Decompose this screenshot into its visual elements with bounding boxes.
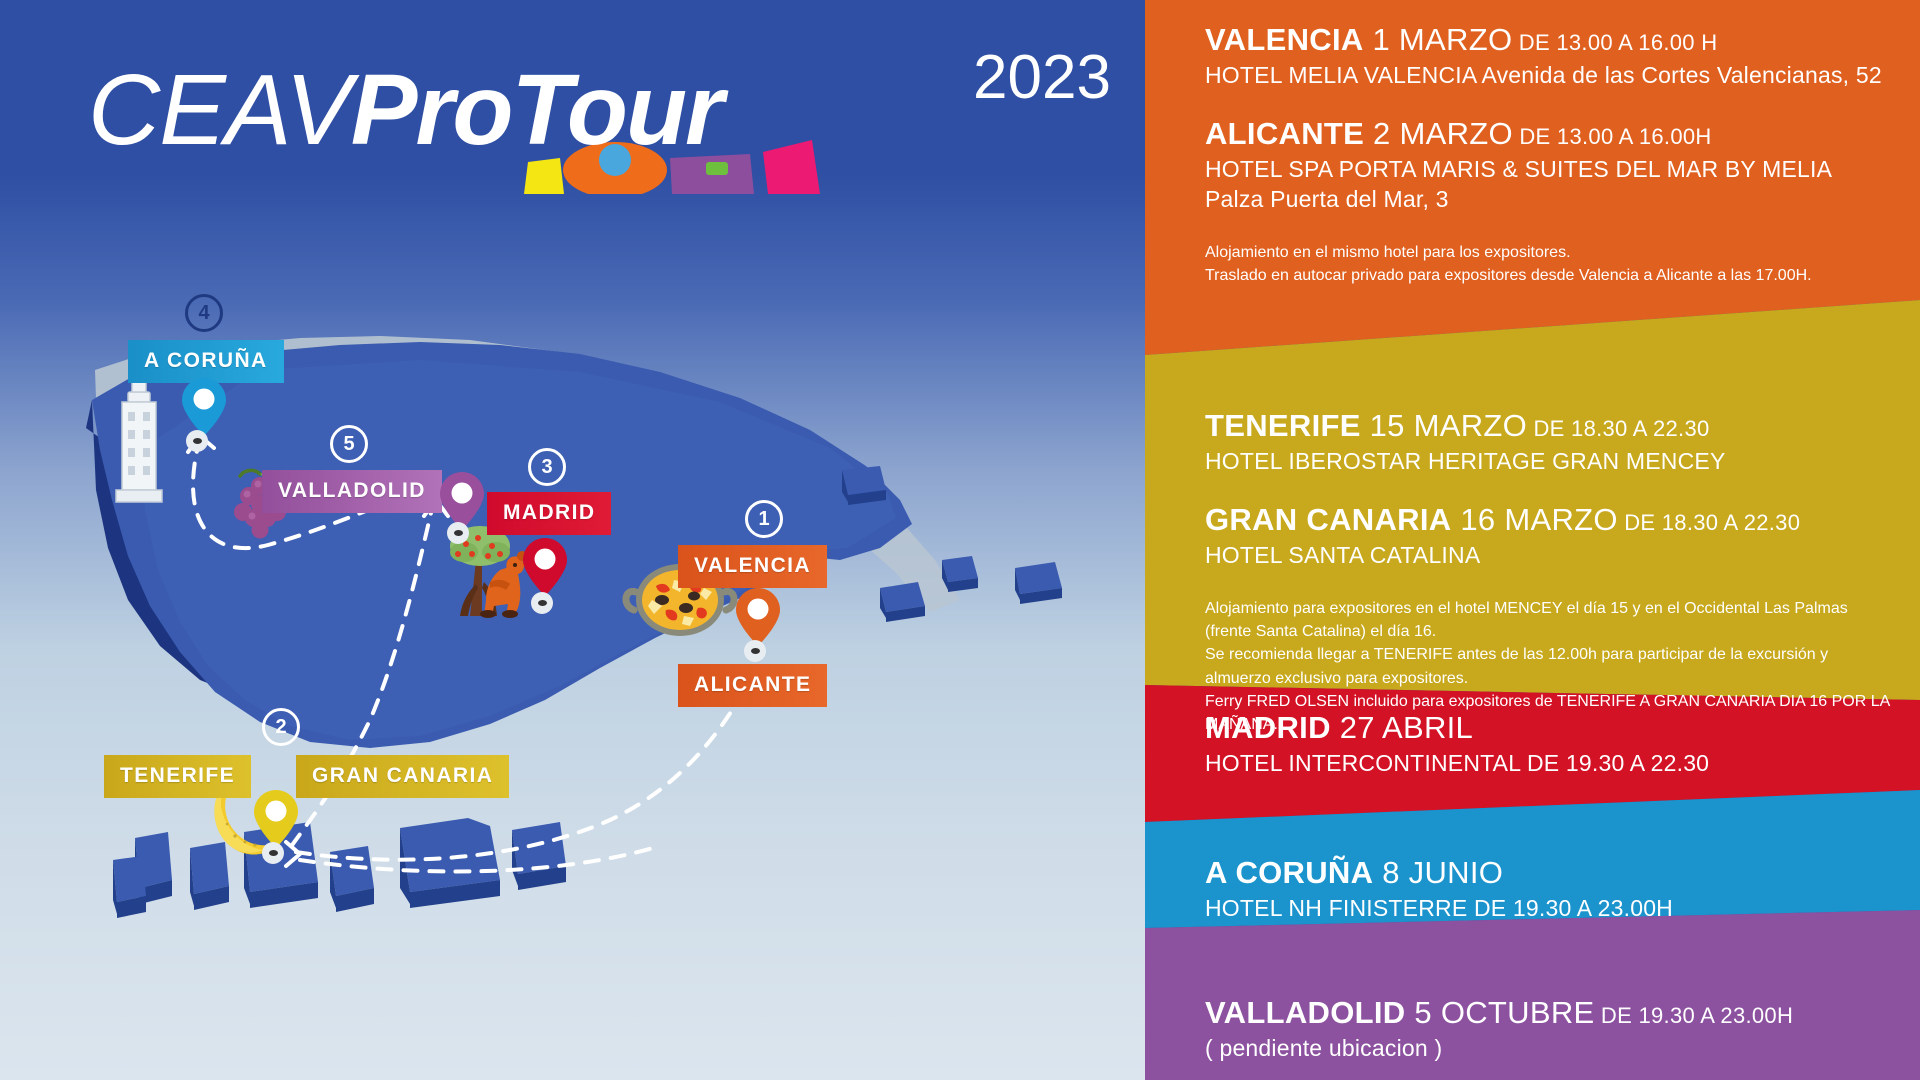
logo-protour-text: ProTour <box>351 54 722 166</box>
event-hotel-valencia: HOTEL MELIA VALENCIA Avenida de las Cort… <box>1205 61 1920 91</box>
map-label-valencia[interactable]: VALENCIA <box>678 545 827 588</box>
event-city: VALLADOLID <box>1205 995 1405 1030</box>
schedule-notes-orange: Alojamiento en el mismo hotel para los e… <box>1205 241 1920 287</box>
event-date: 1 MARZO <box>1364 22 1513 57</box>
event-time: DE 13.00 A 16.00H <box>1513 124 1712 149</box>
map-number-badge-a-coruna: 4 <box>185 294 223 332</box>
event-date: 16 MARZO <box>1451 502 1617 537</box>
event-hotel-gran-canaria: HOTEL SANTA CATALINA <box>1205 541 1920 571</box>
map-pin-a-coruna[interactable] <box>182 378 226 436</box>
map-panel: CEAVProTour 2023 <box>0 0 1145 1080</box>
note-line: almuerzo exclusivo para expositores. <box>1205 667 1920 690</box>
map-dot-a-coruna <box>186 430 208 452</box>
schedule-band-gold: TENERIFE 15 MARZO DE 18.30 A 22.30 HOTEL… <box>1145 408 1920 736</box>
map-label-gran-canaria[interactable]: GRAN CANARIA <box>296 755 509 798</box>
map-pin-valencia[interactable] <box>736 588 780 646</box>
event-hotel-tenerife: HOTEL IBEROSTAR HERITAGE GRAN MENCEY <box>1205 447 1920 477</box>
schedule-panel: VALENCIA 1 MARZO DE 13.00 A 16.00 H HOTE… <box>1145 0 1920 1080</box>
event-hotel-madrid: HOTEL INTERCONTINENTAL DE 19.30 A 22.30 <box>1205 749 1920 779</box>
map-label-tenerife[interactable]: TENERIFE <box>104 755 251 798</box>
note-line: Se recomienda llegar a TENERIFE antes de… <box>1205 643 1920 666</box>
map-number-badge-valencia: 1 <box>745 500 783 538</box>
event-city: VALENCIA <box>1205 22 1364 57</box>
map-pin-madrid[interactable] <box>523 538 567 596</box>
note-line: Alojamiento para expositores en el hotel… <box>1205 597 1920 620</box>
event-city: MADRID <box>1205 710 1331 745</box>
event-title-valencia: VALENCIA 1 MARZO DE 13.00 A 16.00 H <box>1205 22 1920 59</box>
schedule-band-blue: A CORUÑA 8 JUNIO HOTEL NH FINISTERRE DE … <box>1145 855 1920 923</box>
event-time: DE 19.30 A 23.00H <box>1595 1003 1794 1028</box>
note-line: Traslado en autocar privado para exposit… <box>1205 264 1920 287</box>
event-time: DE 18.30 A 22.30 <box>1527 416 1709 441</box>
schedule-band-red: MADRID 27 ABRIL HOTEL INTERCONTINENTAL D… <box>1145 710 1920 778</box>
map-label-madrid[interactable]: MADRID <box>487 492 611 535</box>
event-city: A CORUÑA <box>1205 855 1373 890</box>
event-title-valladolid: VALLADOLID 5 OCTUBRE DE 19.30 A 23.00H <box>1205 995 1920 1032</box>
map-dot-valencia <box>744 640 766 662</box>
event-date: 5 OCTUBRE <box>1405 995 1594 1030</box>
note-line: (frente Santa Catalina) el día 16. <box>1205 620 1920 643</box>
event-city: ALICANTE <box>1205 116 1364 151</box>
map-number-badge-valladolid: 5 <box>330 425 368 463</box>
event-title-madrid: MADRID 27 ABRIL <box>1205 710 1920 747</box>
infographic-root: CEAVProTour 2023 <box>0 0 1920 1080</box>
event-date: 15 MARZO <box>1361 408 1527 443</box>
event-date: 2 MARZO <box>1364 116 1513 151</box>
canary-islands <box>113 818 566 918</box>
map-number-badge-madrid: 3 <box>528 448 566 486</box>
map-pin-canarias[interactable] <box>254 790 298 848</box>
event-time: DE 13.00 A 16.00 H <box>1512 30 1717 55</box>
note-line: Alojamiento en el mismo hotel para los e… <box>1205 241 1920 264</box>
event-hotel-alicante-2: Palza Puerta del Mar, 3 <box>1205 185 1920 215</box>
event-title-tenerife: TENERIFE 15 MARZO DE 18.30 A 22.30 <box>1205 408 1920 445</box>
map-label-alicante[interactable]: ALICANTE <box>678 664 827 707</box>
event-hotel-alicante: HOTEL SPA PORTA MARIS & SUITES DEL MAR B… <box>1205 155 1920 185</box>
event-city: GRAN CANARIA <box>1205 502 1451 537</box>
schedule-band-orange: VALENCIA 1 MARZO DE 13.00 A 16.00 H HOTE… <box>1145 22 1920 287</box>
event-date: 27 ABRIL <box>1331 710 1473 745</box>
event-date: 8 JUNIO <box>1373 855 1503 890</box>
map-dot-madrid <box>531 592 553 614</box>
event-title-alicante: ALICANTE 2 MARZO DE 13.00 A 16.00H <box>1205 116 1920 153</box>
map-label-a-coruna[interactable]: A CORUÑA <box>128 340 284 383</box>
map-number-badge-tenerife: 2 <box>262 708 300 746</box>
schedule-band-purple: VALLADOLID 5 OCTUBRE DE 19.30 A 23.00H (… <box>1145 995 1920 1063</box>
map-pin-valladolid[interactable] <box>440 472 484 530</box>
event-time: DE 18.30 A 22.30 <box>1618 510 1800 535</box>
event-city: TENERIFE <box>1205 408 1361 443</box>
event-title-a-coruna: A CORUÑA 8 JUNIO <box>1205 855 1920 892</box>
map-label-valladolid[interactable]: VALLADOLID <box>262 470 442 513</box>
event-title-gran-canaria: GRAN CANARIA 16 MARZO DE 18.30 A 22.30 <box>1205 502 1920 539</box>
event-hotel-valladolid: ( pendiente ubicacion ) <box>1205 1034 1920 1064</box>
map-dot-valladolid <box>447 522 469 544</box>
map-dot-canarias <box>262 842 284 864</box>
event-hotel-a-coruna: HOTEL NH FINISTERRE DE 19.30 A 23.00H <box>1205 894 1920 924</box>
